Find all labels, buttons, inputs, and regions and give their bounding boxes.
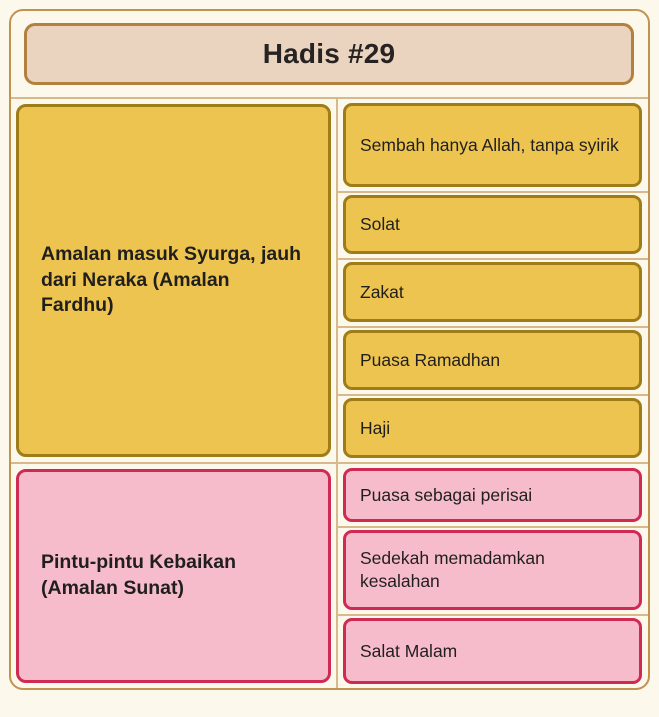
- category-cell-fardhu: Amalan masuk Syurga, jauh dari Neraka (A…: [11, 99, 336, 462]
- diagram-frame: Hadis #29 Amalan masuk Syurga, jauh dari…: [9, 9, 650, 690]
- item-label: Zakat: [360, 281, 404, 304]
- item-label: Salat Malam: [360, 640, 457, 663]
- items-column-fardhu: Sembah hanya Allah, tanpa syirik Solat Z…: [338, 99, 648, 462]
- list-item: Puasa Ramadhan: [338, 326, 648, 394]
- item-box-solat[interactable]: Solat: [343, 195, 642, 254]
- category-box-sunat[interactable]: Pintu-pintu Kebaikan (Amalan Sunat): [16, 469, 331, 683]
- section-amalan-fardhu: Amalan masuk Syurga, jauh dari Neraka (A…: [11, 99, 648, 462]
- item-box-puasa-ramadhan[interactable]: Puasa Ramadhan: [343, 330, 642, 390]
- category-cell-sunat: Pintu-pintu Kebaikan (Amalan Sunat): [11, 464, 336, 688]
- list-item: Zakat: [338, 258, 648, 326]
- item-box-salat-malam[interactable]: Salat Malam: [343, 618, 642, 684]
- list-item: Sembah hanya Allah, tanpa syirik: [338, 99, 648, 191]
- list-item: Puasa sebagai perisai: [338, 464, 648, 526]
- page-title: Hadis #29: [263, 38, 396, 70]
- category-label-fardhu: Amalan masuk Syurga, jauh dari Neraka (A…: [41, 242, 304, 320]
- title-row: Hadis #29: [11, 11, 648, 96]
- category-label-sunat: Pintu-pintu Kebaikan (Amalan Sunat): [41, 550, 304, 602]
- list-item: Sedekah memadamkan kesalahan: [338, 526, 648, 614]
- item-label: Solat: [360, 213, 400, 236]
- section-amalan-sunat: Pintu-pintu Kebaikan (Amalan Sunat) Puas…: [11, 464, 648, 688]
- page-title-box: Hadis #29: [24, 23, 634, 85]
- item-label: Puasa Ramadhan: [360, 349, 500, 372]
- list-item: Solat: [338, 191, 648, 258]
- category-box-fardhu[interactable]: Amalan masuk Syurga, jauh dari Neraka (A…: [16, 104, 331, 457]
- items-column-sunat: Puasa sebagai perisai Sedekah memadamkan…: [338, 464, 648, 688]
- list-item: Haji: [338, 394, 648, 462]
- item-box-sembah-hanya-allah[interactable]: Sembah hanya Allah, tanpa syirik: [343, 103, 642, 187]
- item-label: Sembah hanya Allah, tanpa syirik: [360, 134, 619, 157]
- item-box-sedekah-memadamkan-kesalahan[interactable]: Sedekah memadamkan kesalahan: [343, 530, 642, 610]
- item-box-puasa-sebagai-perisai[interactable]: Puasa sebagai perisai: [343, 468, 642, 522]
- item-label: Haji: [360, 417, 390, 440]
- item-box-haji[interactable]: Haji: [343, 398, 642, 458]
- item-box-zakat[interactable]: Zakat: [343, 262, 642, 322]
- item-label: Sedekah memadamkan kesalahan: [360, 547, 625, 593]
- list-item: Salat Malam: [338, 614, 648, 688]
- item-label: Puasa sebagai perisai: [360, 484, 532, 507]
